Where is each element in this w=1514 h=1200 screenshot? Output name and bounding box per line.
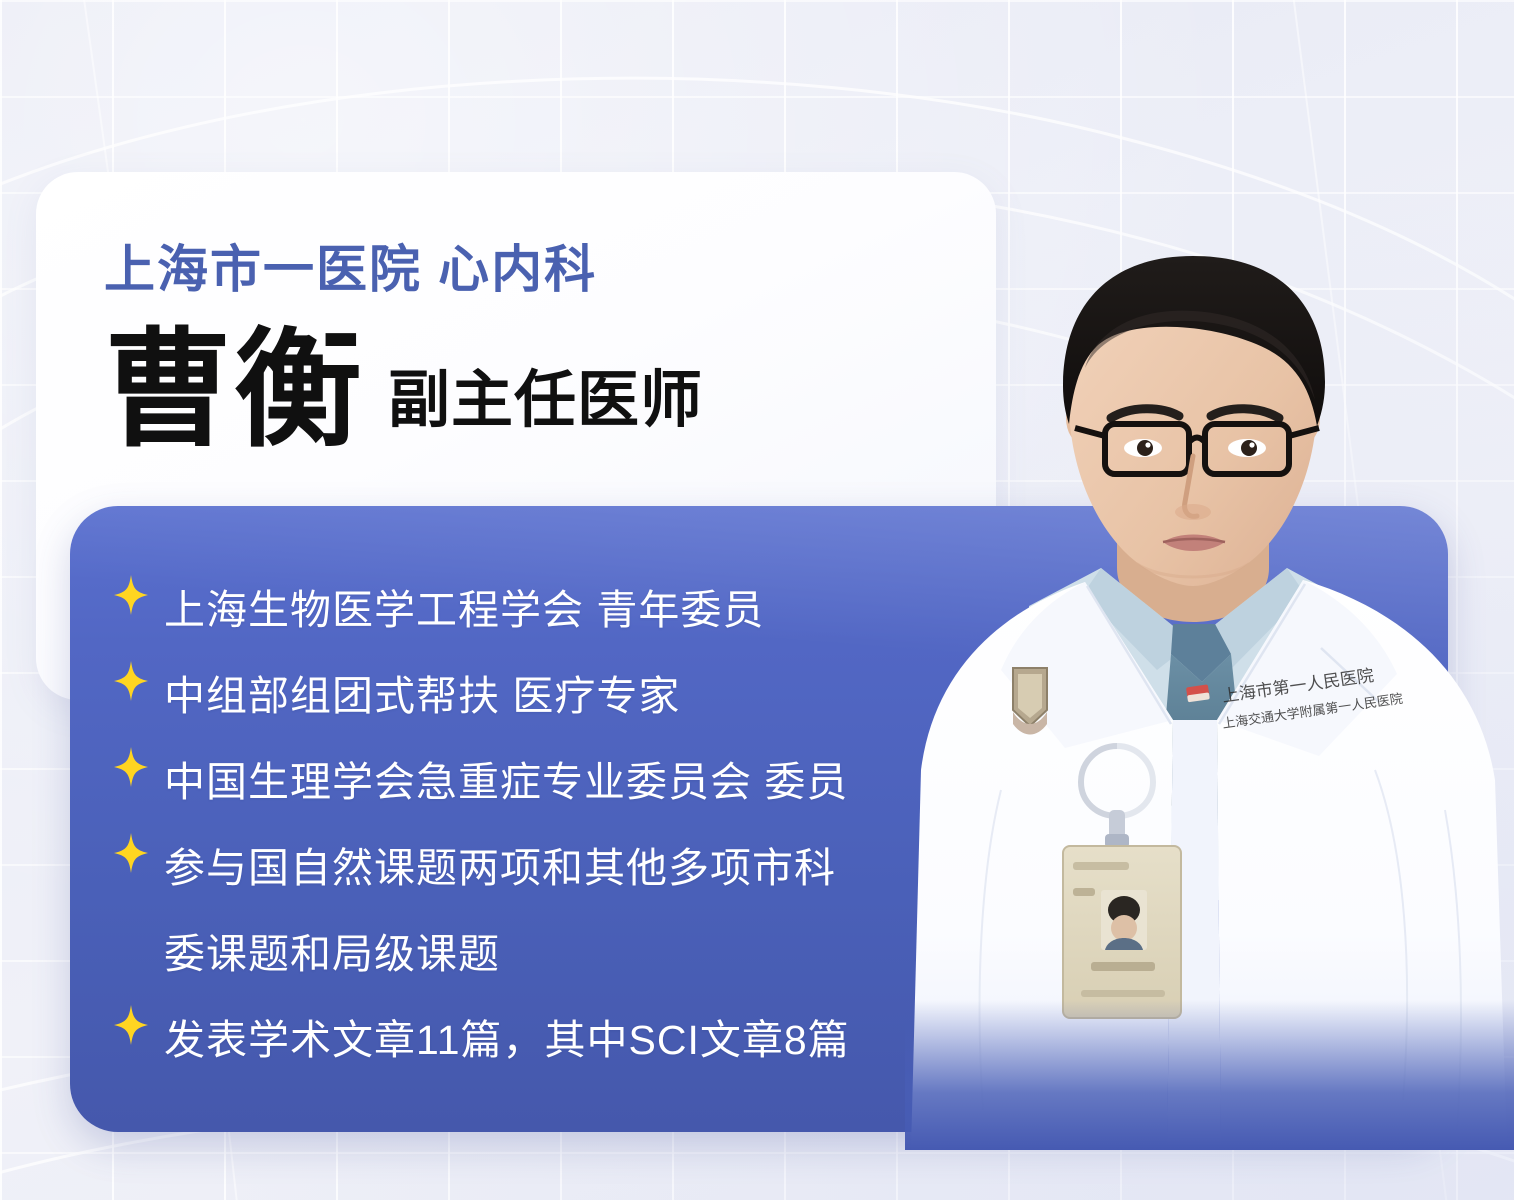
- doctor-profile-poster: 上海市一医院 心内科 曹衡 副主任医师 上海生物医学工程学会 青年委员中组部组团…: [0, 0, 1514, 1200]
- doctor-name-row: 曹衡 副主任医师: [104, 330, 703, 453]
- credential-item: 委课题和局级课题: [112, 916, 1012, 992]
- credential-item: 上海生物医学工程学会 青年委员: [112, 572, 1012, 648]
- credential-text: 委课题和局级课题: [164, 916, 500, 992]
- credential-item: 发表学术文章11篇，其中SCI文章8篇: [112, 1002, 1012, 1078]
- sparkle-star-icon: [112, 1002, 150, 1048]
- credential-text: 上海生物医学工程学会 青年委员: [164, 572, 764, 648]
- credential-item: 参与国自然课题两项和其他多项市科: [112, 830, 1012, 906]
- credential-text: 参与国自然课题两项和其他多项市科: [164, 830, 836, 906]
- department-heading: 上海市一医院 心内科: [104, 228, 597, 302]
- sparkle-star-icon: [112, 572, 150, 618]
- credentials-list: 上海生物医学工程学会 青年委员中组部组团式帮扶 医疗专家中国生理学会急重症专业委…: [112, 572, 1012, 1088]
- sparkle-star-icon: [112, 658, 150, 704]
- sparkle-star-icon: [112, 830, 150, 876]
- doctor-title: 副主任医师: [388, 349, 703, 439]
- doctor-name: 曹衡: [104, 330, 364, 453]
- credential-text: 中组部组团式帮扶 医疗专家: [164, 658, 680, 734]
- credential-text: 中国生理学会急重症专业委员会 委员: [164, 744, 848, 820]
- credential-item: 中组部组团式帮扶 医疗专家: [112, 658, 1012, 734]
- credential-item: 中国生理学会急重症专业委员会 委员: [112, 744, 1012, 820]
- sparkle-star-icon: [112, 744, 150, 790]
- credential-text: 发表学术文章11篇，其中SCI文章8篇: [164, 1002, 850, 1078]
